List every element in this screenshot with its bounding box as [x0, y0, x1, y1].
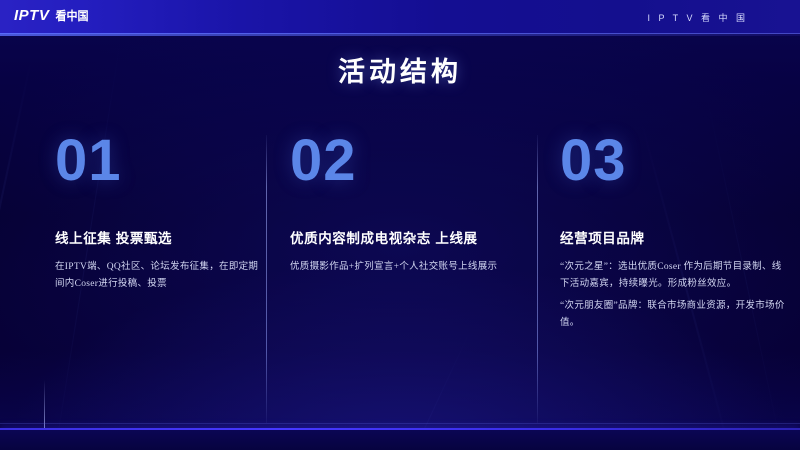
step-column-01: 01 线上征集 投票甄选 在IPTV端、QQ社区、论坛发布征集，在即定期间内Co…	[55, 130, 260, 430]
step-body: 在IPTV端、QQ社区、论坛发布征集，在即定期间内Coser进行投稿、投票	[55, 259, 260, 294]
step-heading: 线上征集 投票甄选	[55, 230, 260, 248]
step-heading: 优质内容制成电视杂志 上线展	[290, 230, 525, 248]
step-number: 02	[290, 132, 525, 190]
header-right-text: I P T V 看 中 国	[647, 11, 748, 24]
brand-logo[interactable]: IPTV 看中国	[14, 7, 90, 24]
brand-logo-cn: 看中国	[56, 7, 89, 24]
page-title: 活动结构	[0, 50, 800, 89]
step-heading: 经营项目品牌	[560, 230, 785, 248]
step-paragraph: 在IPTV端、QQ社区、论坛发布征集，在即定期间内Coser进行投稿、投票	[55, 259, 260, 294]
step-body: 优质摄影作品+扩列宣言+个人社交账号上线展示	[290, 259, 525, 277]
brand-logo-mark: IPTV	[14, 7, 49, 24]
steps-container: 01 线上征集 投票甄选 在IPTV端、QQ社区、论坛发布征集，在即定期间内Co…	[0, 130, 800, 430]
step-paragraph: “次元之星”：选出优质Coser 作为后期节目录制、线下活动嘉宾，持续曝光。形成…	[560, 259, 785, 294]
bottom-strip	[0, 430, 800, 450]
bottom-accent-soft	[0, 423, 800, 424]
slide-canvas: IPTV 看中国 I P T V 看 中 国 活动结构 01 线上征集 投票甄选…	[0, 0, 800, 450]
step-paragraph: “次元朋友圈”品牌：联合市场商业资源，开发市场价值。	[560, 298, 785, 333]
step-body: “次元之星”：选出优质Coser 作为后期节目录制、线下活动嘉宾，持续曝光。形成…	[560, 259, 785, 333]
header-band: IPTV 看中国 I P T V 看 中 国	[0, 0, 800, 34]
column-divider	[537, 135, 538, 423]
step-paragraph: 优质摄影作品+扩列宣言+个人社交账号上线展示	[290, 259, 525, 277]
step-number: 03	[560, 132, 785, 190]
step-number: 01	[55, 132, 260, 190]
column-divider	[266, 135, 267, 423]
step-column-02: 02 优质内容制成电视杂志 上线展 优质摄影作品+扩列宣言+个人社交账号上线展示	[290, 130, 525, 430]
step-column-03: 03 经营项目品牌 “次元之星”：选出优质Coser 作为后期节目录制、线下活动…	[560, 130, 785, 430]
